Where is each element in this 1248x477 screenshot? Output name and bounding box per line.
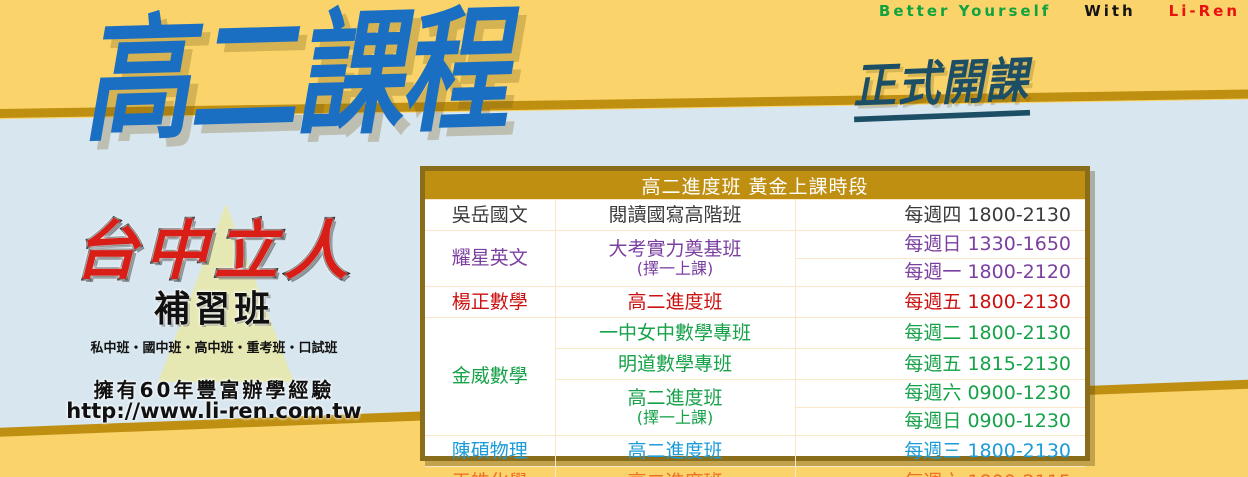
schedule-table-body: 吳岳國文閱讀國寫高階班每週四 1800-2130耀星英文大考實力奠基班(擇一上課… xyxy=(425,200,1085,477)
course-cell: 明道數學專班 xyxy=(555,349,795,380)
time-cell: 每週四 1800-2130 xyxy=(795,200,1085,231)
tagline-black: With xyxy=(1084,2,1136,20)
teacher-cell: 吳岳國文 xyxy=(425,200,555,231)
time-cell: 每週日 1330-1650 xyxy=(795,231,1085,259)
teacher-cell: 耀星英文 xyxy=(425,231,555,287)
course-note: (擇一上課) xyxy=(566,409,785,428)
tagline: Better Yourself With Li-Ren xyxy=(640,2,1240,20)
schedule-table-container: 高二進度班 黃金上課時段 吳岳國文閱讀國寫高階班每週四 1800-2130耀星英… xyxy=(420,166,1090,461)
time-cell: 每週二 1800-2130 xyxy=(795,318,1085,349)
tagline-green: Better Yourself xyxy=(879,2,1051,20)
course-cell: 高二進度班 xyxy=(555,287,795,318)
time-cell: 每週五 1815-2130 xyxy=(795,349,1085,380)
logo-brand-name: 台中立人 xyxy=(18,220,410,284)
teacher-cell: 王皓化學 xyxy=(425,467,555,477)
logo-class-types: 私中班・國中班・高中班・重考班・口試班 xyxy=(18,337,410,356)
table-header-row: 高二進度班 黃金上課時段 xyxy=(425,171,1085,200)
course-cell: 閱讀國寫高階班 xyxy=(555,200,795,231)
table-row: 吳岳國文閱讀國寫高階班每週四 1800-2130 xyxy=(425,200,1085,231)
table-row: 王皓化學高二進度班每週六 1800-2115 xyxy=(425,467,1085,477)
time-cell: 每週六 0900-1230 xyxy=(795,380,1085,408)
page-subtitle: 正式開課 xyxy=(852,57,1030,122)
course-cell: 高二進度班 xyxy=(555,436,795,467)
course-cell: 高二進度班(擇一上課) xyxy=(555,380,795,436)
page-title: 高二課程 xyxy=(80,4,508,151)
table-row: 楊正數學高二進度班每週五 1800-2130 xyxy=(425,287,1085,318)
teacher-cell: 楊正數學 xyxy=(425,287,555,318)
time-cell: 每週三 1800-2130 xyxy=(795,436,1085,467)
tagline-red: Li-Ren xyxy=(1169,2,1240,20)
course-note: (擇一上課) xyxy=(566,260,785,279)
schedule-table: 高二進度班 黃金上課時段 吳岳國文閱讀國寫高階班每週四 1800-2130耀星英… xyxy=(425,171,1085,477)
teacher-cell: 陳碩物理 xyxy=(425,436,555,467)
time-cell: 每週一 1800-2120 xyxy=(795,259,1085,287)
poster-canvas: Better Yourself With Li-Ren 高二課程 正式開課 台中… xyxy=(0,0,1248,477)
course-cell: 大考實力奠基班(擇一上課) xyxy=(555,231,795,287)
table-row: 耀星英文大考實力奠基班(擇一上課)每週日 1330-1650 xyxy=(425,231,1085,259)
time-cell: 每週五 1800-2130 xyxy=(795,287,1085,318)
logo-website-url[interactable]: http://www.li-ren.com.tw xyxy=(18,399,410,423)
time-cell: 每週日 0900-1230 xyxy=(795,408,1085,436)
time-cell: 每週六 1800-2115 xyxy=(795,467,1085,477)
logo-brand-subname: 補習班 xyxy=(18,292,410,328)
table-row: 陳碩物理高二進度班每週三 1800-2130 xyxy=(425,436,1085,467)
brand-logo: 台中立人 補習班 私中班・國中班・高中班・重考班・口試班 擁有60年豐富辦學經驗… xyxy=(18,196,410,432)
schedule-header-title: 高二進度班 黃金上課時段 xyxy=(425,171,1085,200)
course-cell: 高二進度班 xyxy=(555,467,795,477)
teacher-cell: 金威數學 xyxy=(425,318,555,436)
table-row: 金威數學一中女中數學專班每週二 1800-2130 xyxy=(425,318,1085,349)
course-cell: 一中女中數學專班 xyxy=(555,318,795,349)
